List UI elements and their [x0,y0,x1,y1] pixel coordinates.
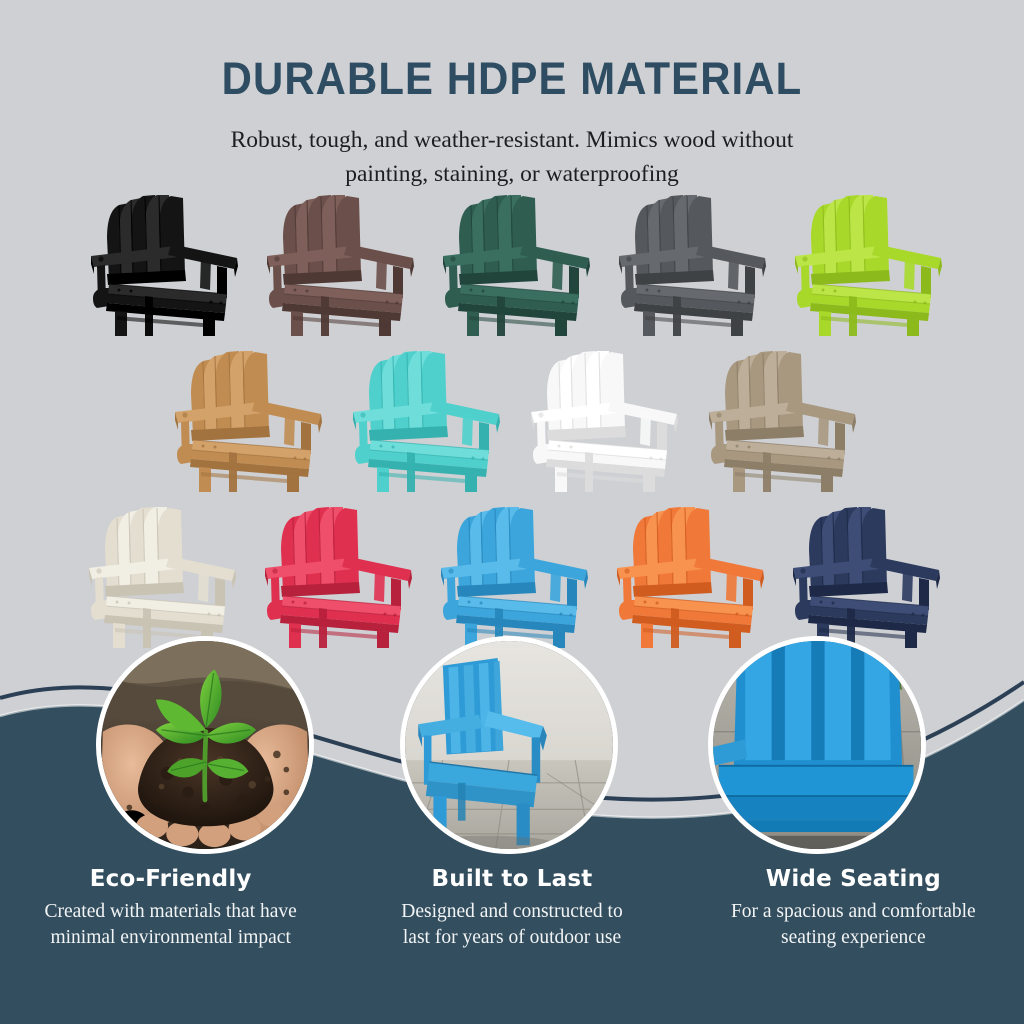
blue-chair-wide-seat-photo [713,641,921,849]
chair-swatch-teak[interactable] [163,342,331,492]
caption-title: Wide Seating [697,866,1010,892]
chair-row-2 [0,342,1024,492]
caption-body-line-2: last for years of outdoor use [403,927,621,948]
caption-body: For a spacious and comfortable seating e… [697,899,1010,950]
chair-row-1 [0,186,1024,336]
caption-body-line-1: Designed and constructed to [401,901,622,922]
chair-swatch-lime-green[interactable] [783,186,951,336]
color-swatch-grid [0,186,1024,648]
chair-swatch-gray[interactable] [607,186,775,336]
chair-swatch-black[interactable] [79,186,247,336]
feature-image-eco-friendly[interactable] [96,636,314,854]
subtitle-line-1: Robust, tough, and weather-resistant. Mi… [231,127,794,153]
blue-chair-patio-photo [405,641,613,849]
feature-caption-row: Eco-Friendly Created with materials that… [0,866,1024,950]
chair-swatch-brown[interactable] [255,186,423,336]
caption-body-line-1: Created with materials that have [45,901,297,922]
caption-wide-seating: Wide Seating For a spacious and comforta… [683,866,1024,950]
caption-body: Created with materials that have minimal… [14,899,327,950]
chair-swatch-white[interactable] [519,342,687,492]
caption-title: Eco-Friendly [14,866,327,892]
seedling-photo [101,641,309,849]
caption-body-line-1: For a spacious and comfortable [731,901,976,922]
caption-body-line-2: seating experience [781,927,926,948]
feature-image-built-to-last[interactable] [400,636,618,854]
caption-body-line-2: minimal environmental impact [50,927,290,948]
chair-swatch-dark-green[interactable] [431,186,599,336]
caption-body: Designed and constructed to last for yea… [355,899,668,950]
caption-eco-friendly: Eco-Friendly Created with materials that… [0,866,341,950]
subtitle: Robust, tough, and weather-resistant. Mi… [162,101,862,191]
header-block: DURABLE HDPE MATERIAL Robust, tough, and… [0,0,1024,191]
chair-swatch-turquoise[interactable] [341,342,509,492]
marketing-banner: DURABLE HDPE MATERIAL Robust, tough, and… [0,0,1024,1024]
caption-built-to-last: Built to Last Designed and constructed t… [341,866,682,950]
feature-image-row [0,624,1024,864]
caption-title: Built to Last [355,866,668,892]
subtitle-line-2: painting, staining, or waterproofing [345,161,679,187]
page-title: DURABLE HDPE MATERIAL [36,0,988,101]
feature-image-wide-seating[interactable] [708,636,926,854]
chair-swatch-taupe[interactable] [697,342,865,492]
